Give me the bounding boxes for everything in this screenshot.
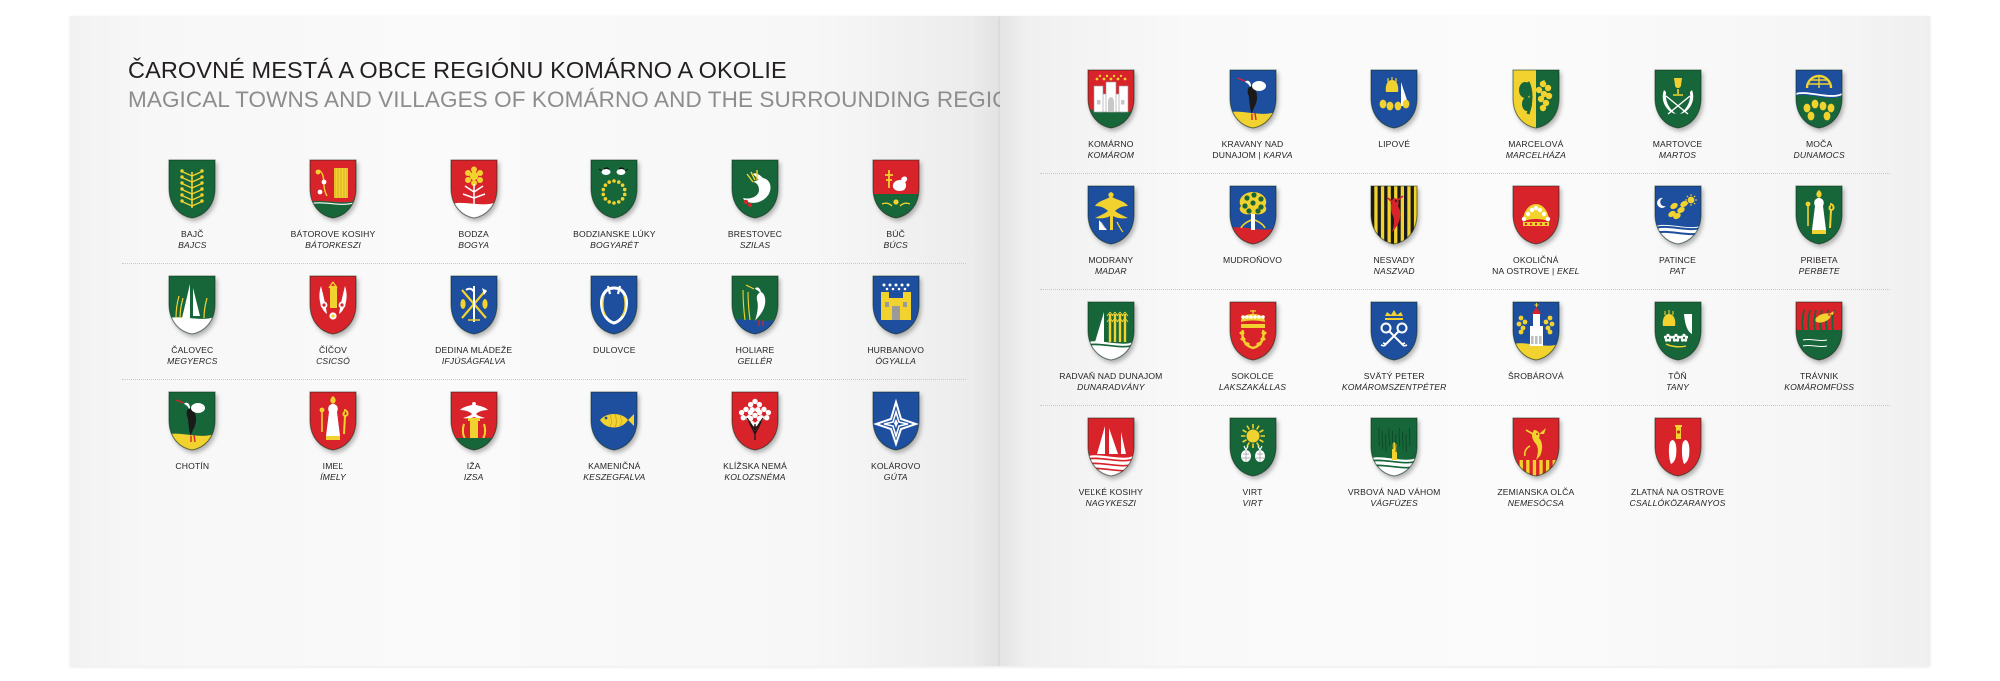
coat-of-arms-modrany-icon — [1085, 184, 1137, 246]
municipality-name-hungarian: KOMÁROMSZENTPÉTER — [1342, 382, 1447, 393]
coat-of-arms-buc-icon — [870, 158, 922, 220]
coat-of-arms-item[interactable]: ČALOVECMEGYERCS — [122, 274, 263, 367]
coat-of-arms-item[interactable]: KOMÁRNOKOMÁROM — [1040, 68, 1182, 161]
municipality-name-slovak-cont: DUNAJOM | KARVA — [1212, 150, 1292, 161]
coat-of-arms-item[interactable]: MARCELOVÁMARCELHÁZA — [1465, 68, 1607, 161]
coat-of-arms-item[interactable]: BÚČBÚCS — [825, 158, 966, 251]
coat-of-arms-row: CHOTÍN IMEĽÍMELY IŽAIZSA — [122, 379, 966, 495]
coat-of-arms-item[interactable]: TÔŇTANY — [1607, 300, 1749, 393]
title-slovak: ČAROVNÉ MESTÁ A OBCE REGIÓNU KOMÁRNO A O… — [128, 56, 966, 85]
coat-of-arms-zlatna-na-ostrove-icon — [1652, 416, 1704, 478]
municipality-name-slovak: SVÄTÝ PETER — [1342, 371, 1447, 382]
municipality-names: PATINCEPAT — [1659, 255, 1696, 277]
coat-of-arms-row: KOMÁRNOKOMÁROM KRAVANY NADDUNAJOM | KARV… — [1040, 58, 1890, 173]
municipality-name-slovak: VEĽKÉ KOSIHY — [1079, 487, 1143, 498]
open-book: ČAROVNÉ MESTÁ A OBCE REGIÓNU KOMÁRNO A O… — [70, 16, 1930, 666]
municipality-name-hungarian: PAT — [1659, 266, 1696, 277]
municipality-names: MARTOVCEMARTOS — [1653, 139, 1703, 161]
municipality-names: KOMÁRNOKOMÁROM — [1088, 139, 1134, 161]
coat-of-arms-item[interactable]: SOKOLCELAKSZAKÁLLAS — [1182, 300, 1324, 393]
coat-of-arms-brestovec-icon — [729, 158, 781, 220]
coat-of-arms-item[interactable]: KLÍŽSKA NEMÁKOLOZSNÉMA — [685, 390, 826, 483]
coat-of-arms-item[interactable]: VRBOVÁ NAD VÁHOMVÁGFÚZES — [1323, 416, 1465, 509]
municipality-name-slovak: OKOLIČNÁ — [1492, 255, 1579, 266]
municipality-name-hungarian: GÚTA — [871, 472, 920, 483]
municipality-name-slovak: HOLIARE — [736, 345, 775, 356]
coat-of-arms-ton-icon — [1652, 300, 1704, 362]
municipality-names: BRESTOVECSZILAS — [728, 229, 782, 251]
municipality-name-hungarian: BAJCS — [178, 240, 206, 251]
municipality-names: ZEMIANSKA OLČANEMESÓCSA — [1497, 487, 1574, 509]
coat-of-arms-kravany-nad-dunajom-icon — [1227, 68, 1279, 130]
municipality-names: MODRANYMADAR — [1088, 255, 1133, 277]
coat-of-arms-row: RADVAŇ NAD DUNAJOMDUNARADVÁNY SOKOLCELAK… — [1040, 289, 1890, 405]
title-english: MAGICAL TOWNS AND VILLAGES OF KOMÁRNO AN… — [128, 86, 966, 113]
coat-of-arms-imel-icon — [307, 390, 359, 452]
municipality-name-hungarian: MARCELHÁZA — [1506, 150, 1566, 161]
coat-of-arms-pribeta-icon — [1793, 184, 1845, 246]
municipality-names: KRAVANY NADDUNAJOM | KARVA — [1212, 139, 1292, 161]
right-coat-of-arms-grid: KOMÁRNOKOMÁROM KRAVANY NADDUNAJOM | KARV… — [1040, 58, 1890, 521]
municipality-names: IŽAIZSA — [464, 461, 484, 483]
coat-of-arms-item[interactable]: ČÍČOVCSICSÓ — [263, 274, 404, 367]
municipality-names: SOKOLCELAKSZAKÁLLAS — [1219, 371, 1286, 393]
coat-of-arms-item[interactable]: MUDROŇOVO — [1182, 184, 1324, 266]
municipality-names: VIRTVIRT — [1242, 487, 1262, 509]
coat-of-arms-chotin-icon — [166, 390, 218, 452]
coat-of-arms-item[interactable]: DULOVCE — [544, 274, 685, 356]
municipality-names: BODZABOGYA — [458, 229, 489, 251]
municipality-name-hungarian: MEGYERCS — [167, 356, 217, 367]
municipality-names: IMEĽÍMELY — [320, 461, 346, 483]
municipality-names: ZLATNÁ NA OSTROVECSALLÓKÖZARANYOS — [1630, 487, 1726, 509]
coat-of-arms-item[interactable]: KRAVANY NADDUNAJOM | KARVA — [1182, 68, 1324, 161]
municipality-name-hungarian: CSALLÓKÖZARANYOS — [1630, 498, 1726, 509]
coat-of-arms-item[interactable]: BAJČBAJCS — [122, 158, 263, 251]
coat-of-arms-item[interactable]: LIPOVÉ — [1323, 68, 1465, 150]
coat-of-arms-row: VEĽKÉ KOSIHYNAGYKESZI VIRTVIRT — [1040, 405, 1890, 521]
municipality-names: BÁTOROVE KOSIHYBÁTORKESZI — [291, 229, 376, 251]
coat-of-arms-item[interactable]: NESVADYNASZVAD — [1323, 184, 1465, 277]
municipality-name-hungarian: BOGYARÉT — [573, 240, 655, 251]
municipality-name-slovak-cont: NA OSTROVE | EKEL — [1492, 266, 1579, 277]
coat-of-arms-svaty-peter-icon — [1368, 300, 1420, 362]
coat-of-arms-row: BAJČBAJCS BÁTOROVE KOSIHYBÁTORKESZI BO — [122, 148, 966, 263]
municipality-name-slovak: BODZA — [458, 229, 489, 240]
municipality-name-slovak: VRBOVÁ NAD VÁHOM — [1348, 487, 1441, 498]
municipality-names: ČALOVECMEGYERCS — [167, 345, 217, 367]
municipality-name-slovak: ZEMIANSKA OLČA — [1497, 487, 1574, 498]
municipality-name-hungarian: VÁGFÚZES — [1348, 498, 1441, 509]
municipality-names: LIPOVÉ — [1378, 139, 1410, 150]
municipality-name-slovak: TRÁVNIK — [1784, 371, 1854, 382]
municipality-names: VEĽKÉ KOSIHYNAGYKESZI — [1079, 487, 1143, 509]
right-page: KOMÁRNOKOMÁROM KRAVANY NADDUNAJOM | KARV… — [1000, 16, 1930, 666]
coat-of-arms-marcelova-icon — [1510, 68, 1562, 130]
coat-of-arms-item[interactable]: BODZIANSKE LÚKYBOGYARÉT — [544, 158, 685, 251]
municipality-names: NESVADYNASZVAD — [1373, 255, 1414, 277]
coat-of-arms-item[interactable]: TRÁVNIKKOMÁROMFÜSS — [1748, 300, 1890, 393]
municipality-name-hungarian: LAKSZAKÁLLAS — [1219, 382, 1286, 393]
coat-of-arms-iza-icon — [448, 390, 500, 452]
coat-of-arms-item[interactable]: PATINCEPAT — [1607, 184, 1749, 277]
coat-of-arms-patince-icon — [1652, 184, 1704, 246]
coat-of-arms-item[interactable]: CHOTÍN — [122, 390, 263, 472]
coat-of-arms-bodza-icon — [448, 158, 500, 220]
municipality-name-hungarian: CSICSÓ — [316, 356, 350, 367]
municipality-name-hungarian: IFJÚSÁGFALVA — [435, 356, 512, 367]
municipality-name-slovak: BÁTOROVE KOSIHY — [291, 229, 376, 240]
municipality-names: PRIBETAPERBETE — [1799, 255, 1840, 277]
coat-of-arms-travnik-icon — [1793, 300, 1845, 362]
municipality-name-slovak: MUDROŇOVO — [1223, 255, 1282, 266]
coat-of-arms-hurbanovo-icon — [870, 274, 922, 336]
municipality-name-hungarian: SZILAS — [728, 240, 782, 251]
coat-of-arms-item[interactable]: ZLATNÁ NA OSTROVECSALLÓKÖZARANYOS — [1607, 416, 1749, 509]
coat-of-arms-kamenicna-icon — [588, 390, 640, 452]
municipality-names: KLÍŽSKA NEMÁKOLOZSNÉMA — [723, 461, 787, 483]
municipality-name-slovak: TÔŇ — [1666, 371, 1689, 382]
municipality-name-hungarian: VIRT — [1242, 498, 1262, 509]
municipality-names: MARCELOVÁMARCELHÁZA — [1506, 139, 1566, 161]
municipality-name-slovak: LIPOVÉ — [1378, 139, 1410, 150]
coat-of-arms-item[interactable]: RADVAŇ NAD DUNAJOMDUNARADVÁNY — [1040, 300, 1182, 393]
municipality-name-slovak: KRAVANY NAD — [1212, 139, 1292, 150]
municipality-names: BÚČBÚCS — [883, 229, 907, 251]
municipality-names: KOLÁROVOGÚTA — [871, 461, 920, 483]
coat-of-arms-moca-icon — [1793, 68, 1845, 130]
municipality-name-slovak: BÚČ — [883, 229, 907, 240]
coat-of-arms-sokolce-icon — [1227, 300, 1279, 362]
municipality-name-slovak: IŽA — [464, 461, 484, 472]
coat-of-arms-kolarovo-icon — [870, 390, 922, 452]
coat-of-arms-item[interactable]: MOČADUNAMOCS — [1748, 68, 1890, 161]
coat-of-arms-bodzianske-luky-icon — [588, 158, 640, 220]
municipality-names: ŠROBÁROVÁ — [1508, 371, 1564, 382]
municipality-names: BAJČBAJCS — [178, 229, 206, 251]
municipality-name-slovak: KOLÁROVO — [871, 461, 920, 472]
municipality-name-slovak: KLÍŽSKA NEMÁ — [723, 461, 787, 472]
municipality-name-hungarian: PERBETE — [1799, 266, 1840, 277]
coat-of-arms-lipove-icon — [1368, 68, 1420, 130]
municipality-name-hungarian: DUNAMOCS — [1794, 150, 1845, 161]
municipality-name-hungarian: BOGYA — [458, 240, 489, 251]
coat-of-arms-item[interactable]: ŠROBÁROVÁ — [1465, 300, 1607, 382]
municipality-name-hungarian: MADAR — [1088, 266, 1133, 277]
coat-of-arms-item[interactable]: HURBANOVOÓGYALLA — [825, 274, 966, 367]
left-page: ČAROVNÉ MESTÁ A OBCE REGIÓNU KOMÁRNO A O… — [70, 16, 1000, 666]
coat-of-arms-virt-icon — [1227, 416, 1279, 478]
coat-of-arms-item[interactable]: BODZABOGYA — [403, 158, 544, 251]
municipality-names: DULOVCE — [593, 345, 636, 356]
coat-of-arms-item[interactable]: MARTOVCEMARTOS — [1607, 68, 1749, 161]
coat-of-arms-item[interactable]: KAMENIČNÁKESZEGFALVA — [544, 390, 685, 483]
coat-of-arms-calovec-icon — [166, 274, 218, 336]
municipality-name-slovak: ČALOVEC — [167, 345, 217, 356]
municipality-names: BODZIANSKE LÚKYBOGYARÉT — [573, 229, 655, 251]
coat-of-arms-row: MODRANYMADAR MUDROŇOVO NESVADYNASZVAD — [1040, 173, 1890, 289]
municipality-name-slovak: ČÍČOV — [316, 345, 350, 356]
municipality-name-slovak: PRIBETA — [1799, 255, 1840, 266]
municipality-names: RADVAŇ NAD DUNAJOMDUNARADVÁNY — [1059, 371, 1162, 393]
municipality-names: HOLIAREGELLÉR — [736, 345, 775, 367]
coat-of-arms-srobarova-icon — [1510, 300, 1562, 362]
coat-of-arms-bajc-icon — [166, 158, 218, 220]
municipality-name-slovak: DULOVCE — [593, 345, 636, 356]
coat-of-arms-item[interactable]: IŽAIZSA — [403, 390, 544, 483]
left-coat-of-arms-grid: BAJČBAJCS BÁTOROVE KOSIHYBÁTORKESZI BO — [122, 148, 966, 495]
municipality-names: SVÄTÝ PETERKOMÁROMSZENTPÉTER — [1342, 371, 1447, 393]
municipality-name-slovak: DEDINA MLÁDEŽE — [435, 345, 512, 356]
municipality-name-hungarian: NAGYKESZI — [1079, 498, 1143, 509]
coat-of-arms-row: ČALOVECMEGYERCS ČÍČOVCSICSÓ — [122, 263, 966, 379]
coat-of-arms-komarno-icon — [1085, 68, 1137, 130]
coat-of-arms-item[interactable]: KOLÁROVOGÚTA — [825, 390, 966, 483]
municipality-name-slovak: MOČA — [1794, 139, 1845, 150]
coat-of-arms-item[interactable]: IMEĽÍMELY — [263, 390, 404, 483]
coat-of-arms-item[interactable]: OKOLIČNÁNA OSTROVE | EKEL — [1465, 184, 1607, 277]
coat-of-arms-item[interactable]: VIRTVIRT — [1182, 416, 1324, 509]
coat-of-arms-item[interactable]: DEDINA MLÁDEŽEIFJÚSÁGFALVA — [403, 274, 544, 367]
municipality-names: DEDINA MLÁDEŽEIFJÚSÁGFALVA — [435, 345, 512, 367]
coat-of-arms-klizska-nema-icon — [729, 390, 781, 452]
municipality-name-slovak: VIRT — [1242, 487, 1262, 498]
municipality-name-hungarian: KOMÁROM — [1088, 150, 1134, 161]
municipality-names: MOČADUNAMOCS — [1794, 139, 1845, 161]
coat-of-arms-item[interactable]: BÁTOROVE KOSIHYBÁTORKESZI — [263, 158, 404, 251]
municipality-name-slovak: BRESTOVEC — [728, 229, 782, 240]
coat-of-arms-holiare-icon — [729, 274, 781, 336]
municipality-name-slovak: MARCELOVÁ — [1506, 139, 1566, 150]
municipality-name-hungarian: IZSA — [464, 472, 484, 483]
municipality-name-hungarian: DUNARADVÁNY — [1059, 382, 1162, 393]
municipality-name-slovak: SOKOLCE — [1219, 371, 1286, 382]
coat-of-arms-item[interactable]: HOLIAREGELLÉR — [685, 274, 826, 367]
municipality-name-hungarian: NEMESÓCSA — [1497, 498, 1574, 509]
coat-of-arms-cicov-icon — [307, 274, 359, 336]
municipality-names: VRBOVÁ NAD VÁHOMVÁGFÚZES — [1348, 487, 1441, 509]
coat-of-arms-okolicna-na-ostrove-icon — [1510, 184, 1562, 246]
coat-of-arms-item[interactable]: ZEMIANSKA OLČANEMESÓCSA — [1465, 416, 1607, 509]
coat-of-arms-item[interactable]: PRIBETAPERBETE — [1748, 184, 1890, 277]
municipality-name-hungarian: MARTOS — [1653, 150, 1703, 161]
municipality-names: OKOLIČNÁNA OSTROVE | EKEL — [1492, 255, 1579, 277]
municipality-name-slovak: NESVADY — [1373, 255, 1414, 266]
municipality-name-hungarian: TANY — [1666, 382, 1689, 393]
municipality-name-slovak: PATINCE — [1659, 255, 1696, 266]
coat-of-arms-martovce-icon — [1652, 68, 1704, 130]
municipality-name-hungarian: ÍMELY — [320, 472, 346, 483]
coat-of-arms-dedina-mladeze-icon — [448, 274, 500, 336]
municipality-names: MUDROŇOVO — [1223, 255, 1282, 266]
page-title: ČAROVNÉ MESTÁ A OBCE REGIÓNU KOMÁRNO A O… — [128, 56, 966, 114]
municipality-name-hungarian: GELLÉR — [736, 356, 775, 367]
municipality-name-hungarian: BÁTORKESZI — [291, 240, 376, 251]
coat-of-arms-mudronovo-icon — [1227, 184, 1279, 246]
coat-of-arms-batorove-kosihy-icon — [307, 158, 359, 220]
coat-of-arms-velke-kosihy-icon — [1085, 416, 1137, 478]
municipality-name-slovak: KOMÁRNO — [1088, 139, 1134, 150]
municipality-name-slovak: ŠROBÁROVÁ — [1508, 371, 1564, 382]
coat-of-arms-nesvady-icon — [1368, 184, 1420, 246]
municipality-name-slovak: RADVAŇ NAD DUNAJOM — [1059, 371, 1162, 382]
municipality-names: CHOTÍN — [175, 461, 209, 472]
municipality-names: TÔŇTANY — [1666, 371, 1689, 393]
coat-of-arms-item[interactable]: BRESTOVECSZILAS — [685, 158, 826, 251]
municipality-name-slovak: MODRANY — [1088, 255, 1133, 266]
book-spread: ČAROVNÉ MESTÁ A OBCE REGIÓNU KOMÁRNO A O… — [0, 0, 2000, 681]
coat-of-arms-radvan-nad-dunajom-icon — [1085, 300, 1137, 362]
municipality-name-slovak: CHOTÍN — [175, 461, 209, 472]
coat-of-arms-zemianska-olca-icon — [1510, 416, 1562, 478]
municipality-names: KAMENIČNÁKESZEGFALVA — [583, 461, 645, 483]
coat-of-arms-item[interactable]: VEĽKÉ KOSIHYNAGYKESZI — [1040, 416, 1182, 509]
municipality-name-slovak: KAMENIČNÁ — [583, 461, 645, 472]
municipality-names: HURBANOVOÓGYALLA — [867, 345, 924, 367]
municipality-name-slovak: BAJČ — [178, 229, 206, 240]
municipality-name-slovak: BODZIANSKE LÚKY — [573, 229, 655, 240]
municipality-name-slovak: MARTOVCE — [1653, 139, 1703, 150]
coat-of-arms-item[interactable]: SVÄTÝ PETERKOMÁROMSZENTPÉTER — [1323, 300, 1465, 393]
municipality-name-hungarian: BÚCS — [883, 240, 907, 251]
coat-of-arms-dulovce-icon — [588, 274, 640, 336]
coat-of-arms-vrbova-nad-vahom-icon — [1368, 416, 1420, 478]
municipality-name-slovak: ZLATNÁ NA OSTROVE — [1630, 487, 1726, 498]
municipality-name-hungarian: ÓGYALLA — [867, 356, 924, 367]
municipality-name-hungarian: KOLOZSNÉMA — [723, 472, 787, 483]
municipality-name-slovak: HURBANOVO — [867, 345, 924, 356]
municipality-name-slovak: IMEĽ — [320, 461, 346, 472]
municipality-names: TRÁVNIKKOMÁROMFÜSS — [1784, 371, 1854, 393]
municipality-name-hungarian: KOMÁROMFÜSS — [1784, 382, 1854, 393]
municipality-name-hungarian: NASZVAD — [1373, 266, 1414, 277]
coat-of-arms-item[interactable]: MODRANYMADAR — [1040, 184, 1182, 277]
municipality-names: ČÍČOVCSICSÓ — [316, 345, 350, 367]
municipality-name-hungarian: KESZEGFALVA — [583, 472, 645, 483]
